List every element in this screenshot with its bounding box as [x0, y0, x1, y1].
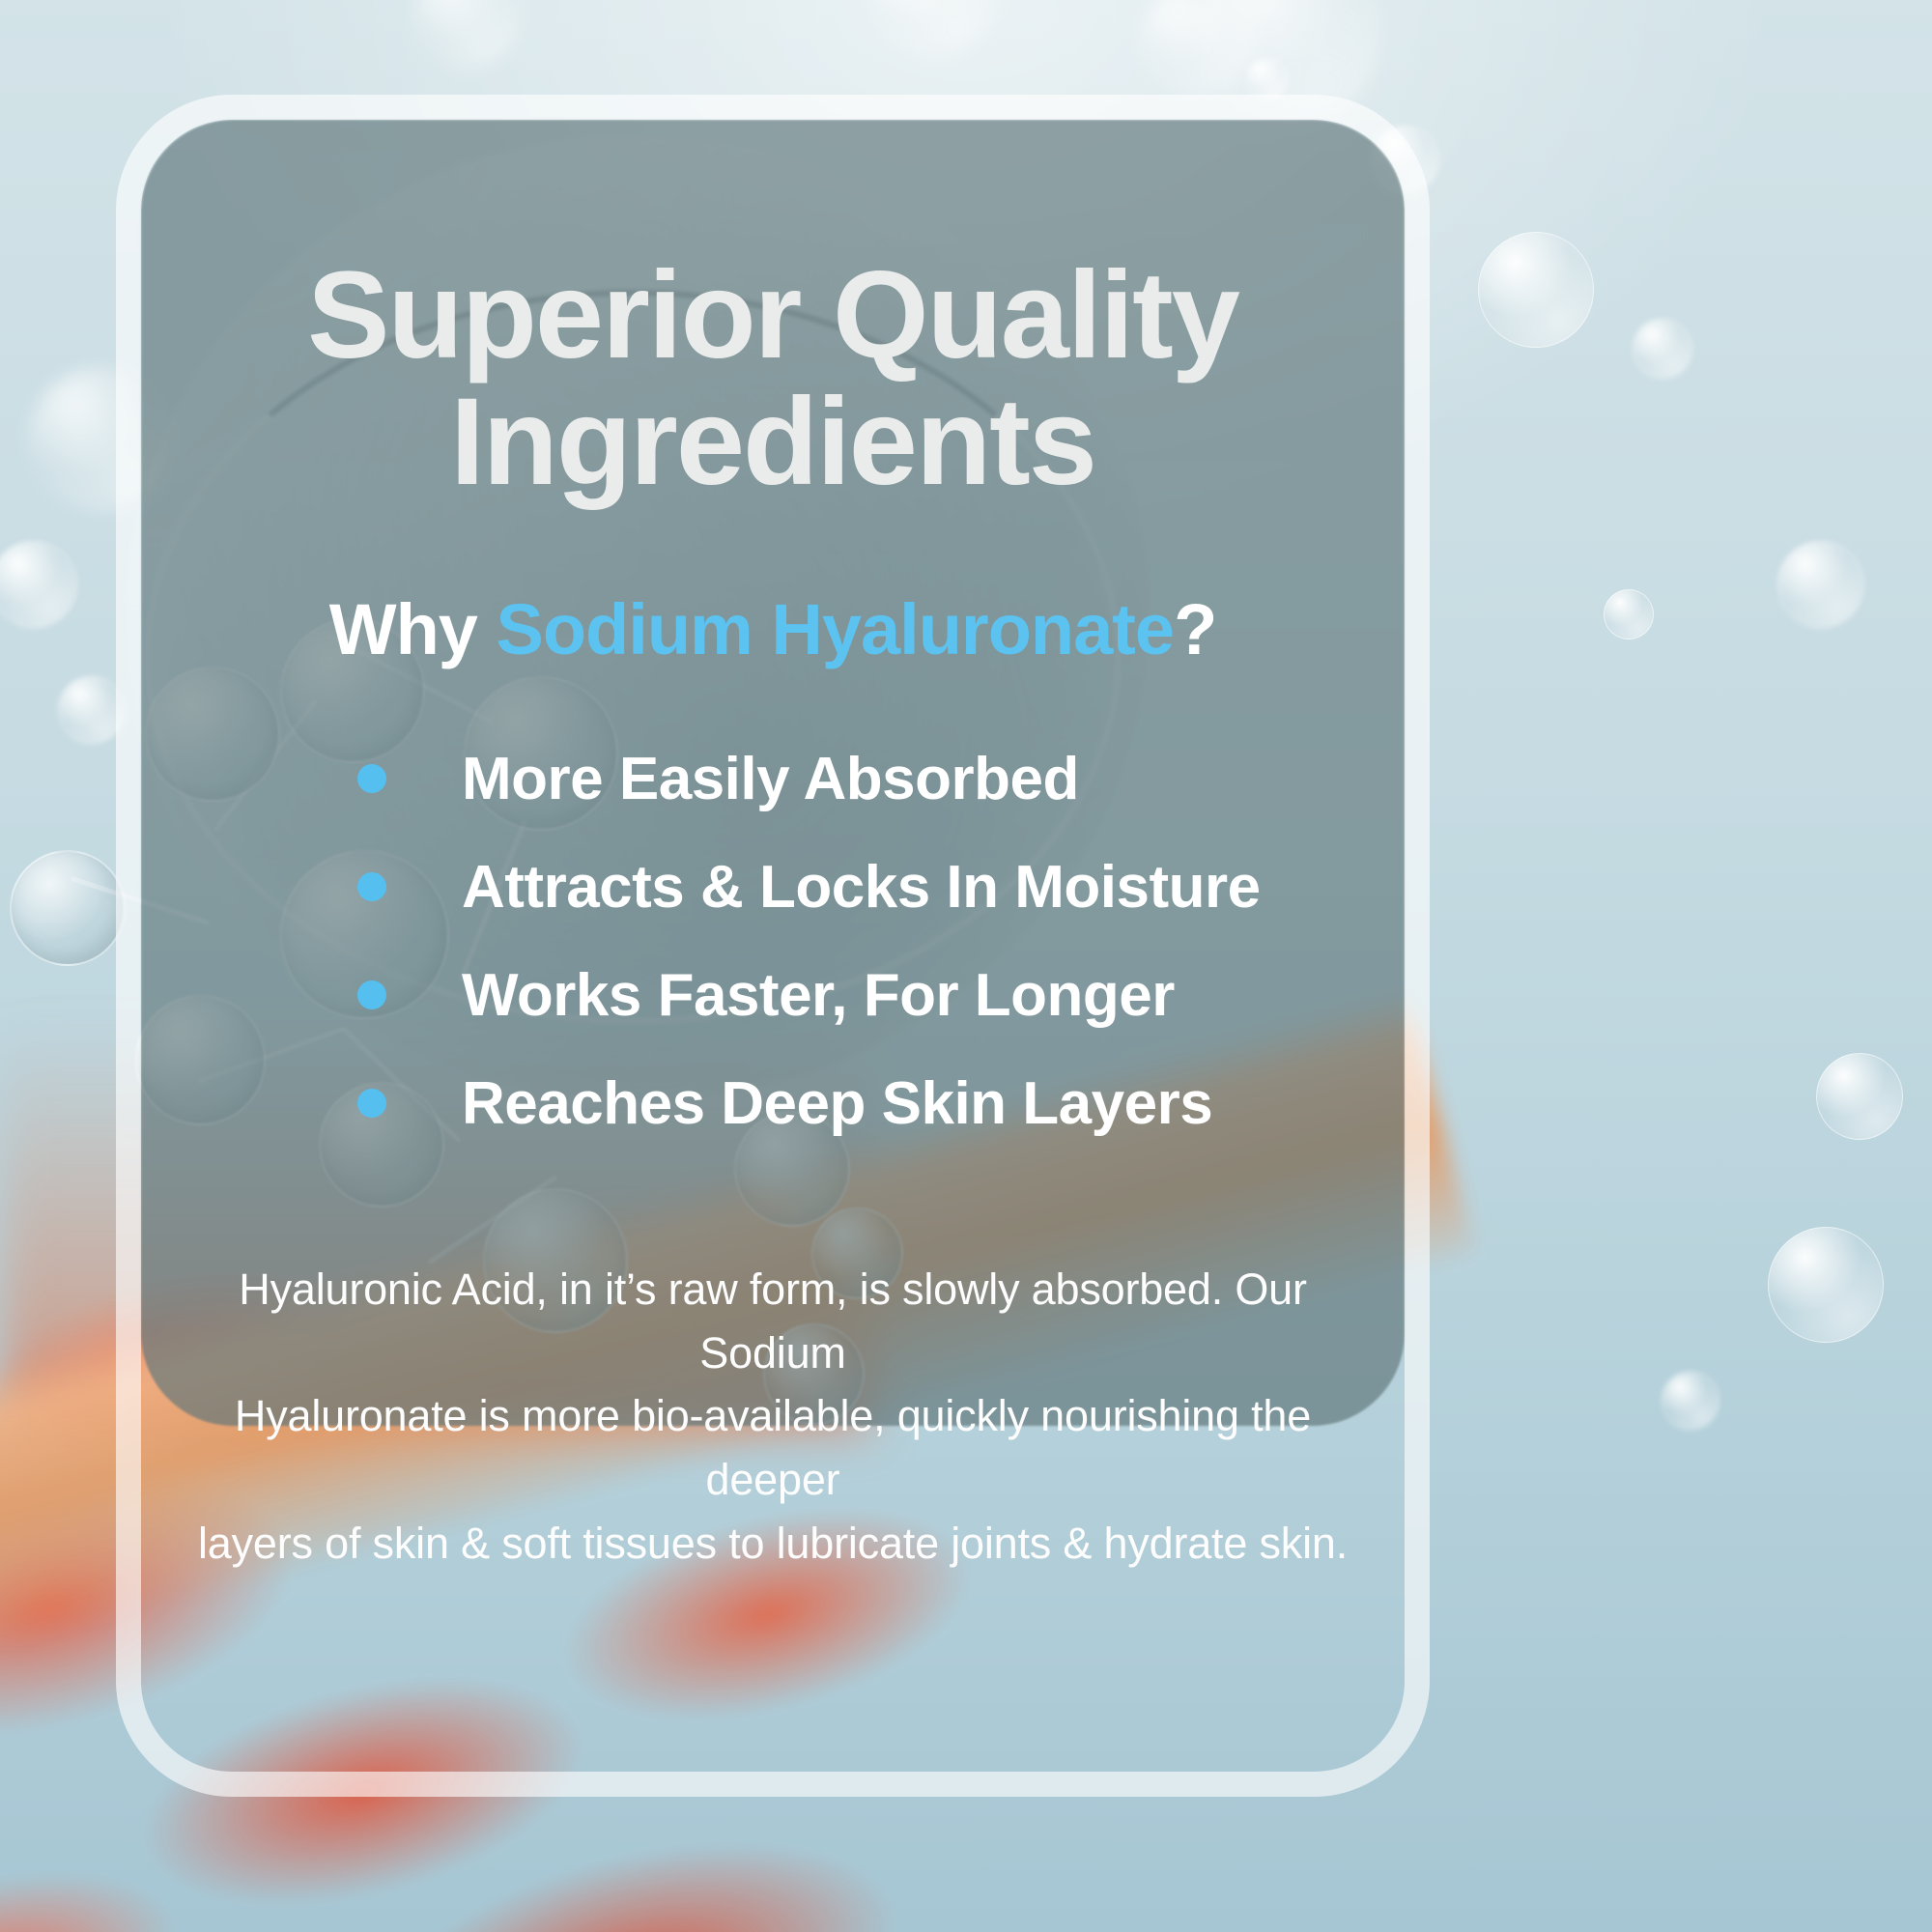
page-title: Superior Quality Ingredients [141, 253, 1405, 505]
dot-icon [357, 872, 386, 901]
paragraph-line-2: Hyaluronate is more bio-available, quick… [179, 1384, 1367, 1511]
bubble [1768, 1227, 1884, 1343]
bubble [1816, 1053, 1903, 1140]
paragraph-line-1: Hyaluronic Acid, in it’s raw form, is sl… [179, 1258, 1367, 1384]
infographic-stage: Superior Quality Ingredients Why Sodium … [0, 0, 1932, 1932]
list-item: Reaches Deep Skin Layers [357, 1063, 1405, 1144]
benefits-list: More Easily Absorbed Attracts & Locks In… [141, 738, 1405, 1144]
description-paragraph: Hyaluronic Acid, in it’s raw form, is sl… [179, 1258, 1367, 1575]
benefit-label: Reaches Deep Skin Layers [462, 1069, 1212, 1138]
subtitle-prefix: Why [329, 589, 497, 669]
bubble [1777, 541, 1864, 628]
benefit-label: Works Faster, For Longer [462, 961, 1175, 1030]
dot-icon [357, 764, 386, 793]
bubble [1478, 232, 1594, 348]
benefit-label: Attracts & Locks In Moisture [462, 853, 1261, 922]
bubble [1604, 589, 1654, 639]
title-line-1: Superior Quality [141, 253, 1405, 380]
bubble [1662, 1372, 1719, 1430]
card-content: Superior Quality Ingredients Why Sodium … [141, 120, 1405, 1799]
title-line-2: Ingredients [141, 380, 1405, 506]
paragraph-line-3: layers of skin & soft tissues to lubrica… [179, 1512, 1367, 1576]
list-item: Attracts & Locks In Moisture [357, 846, 1405, 927]
dot-icon [357, 980, 386, 1009]
benefit-label: More Easily Absorbed [462, 745, 1079, 813]
list-item: Works Faster, For Longer [357, 954, 1405, 1036]
list-item: More Easily Absorbed [357, 738, 1405, 819]
dot-icon [357, 1089, 386, 1118]
subtitle-suffix: ? [1174, 589, 1216, 669]
subtitle-highlight: Sodium Hyaluronate [497, 589, 1175, 669]
bubble [1633, 319, 1692, 379]
subtitle: Why Sodium Hyaluronate? [141, 588, 1405, 670]
